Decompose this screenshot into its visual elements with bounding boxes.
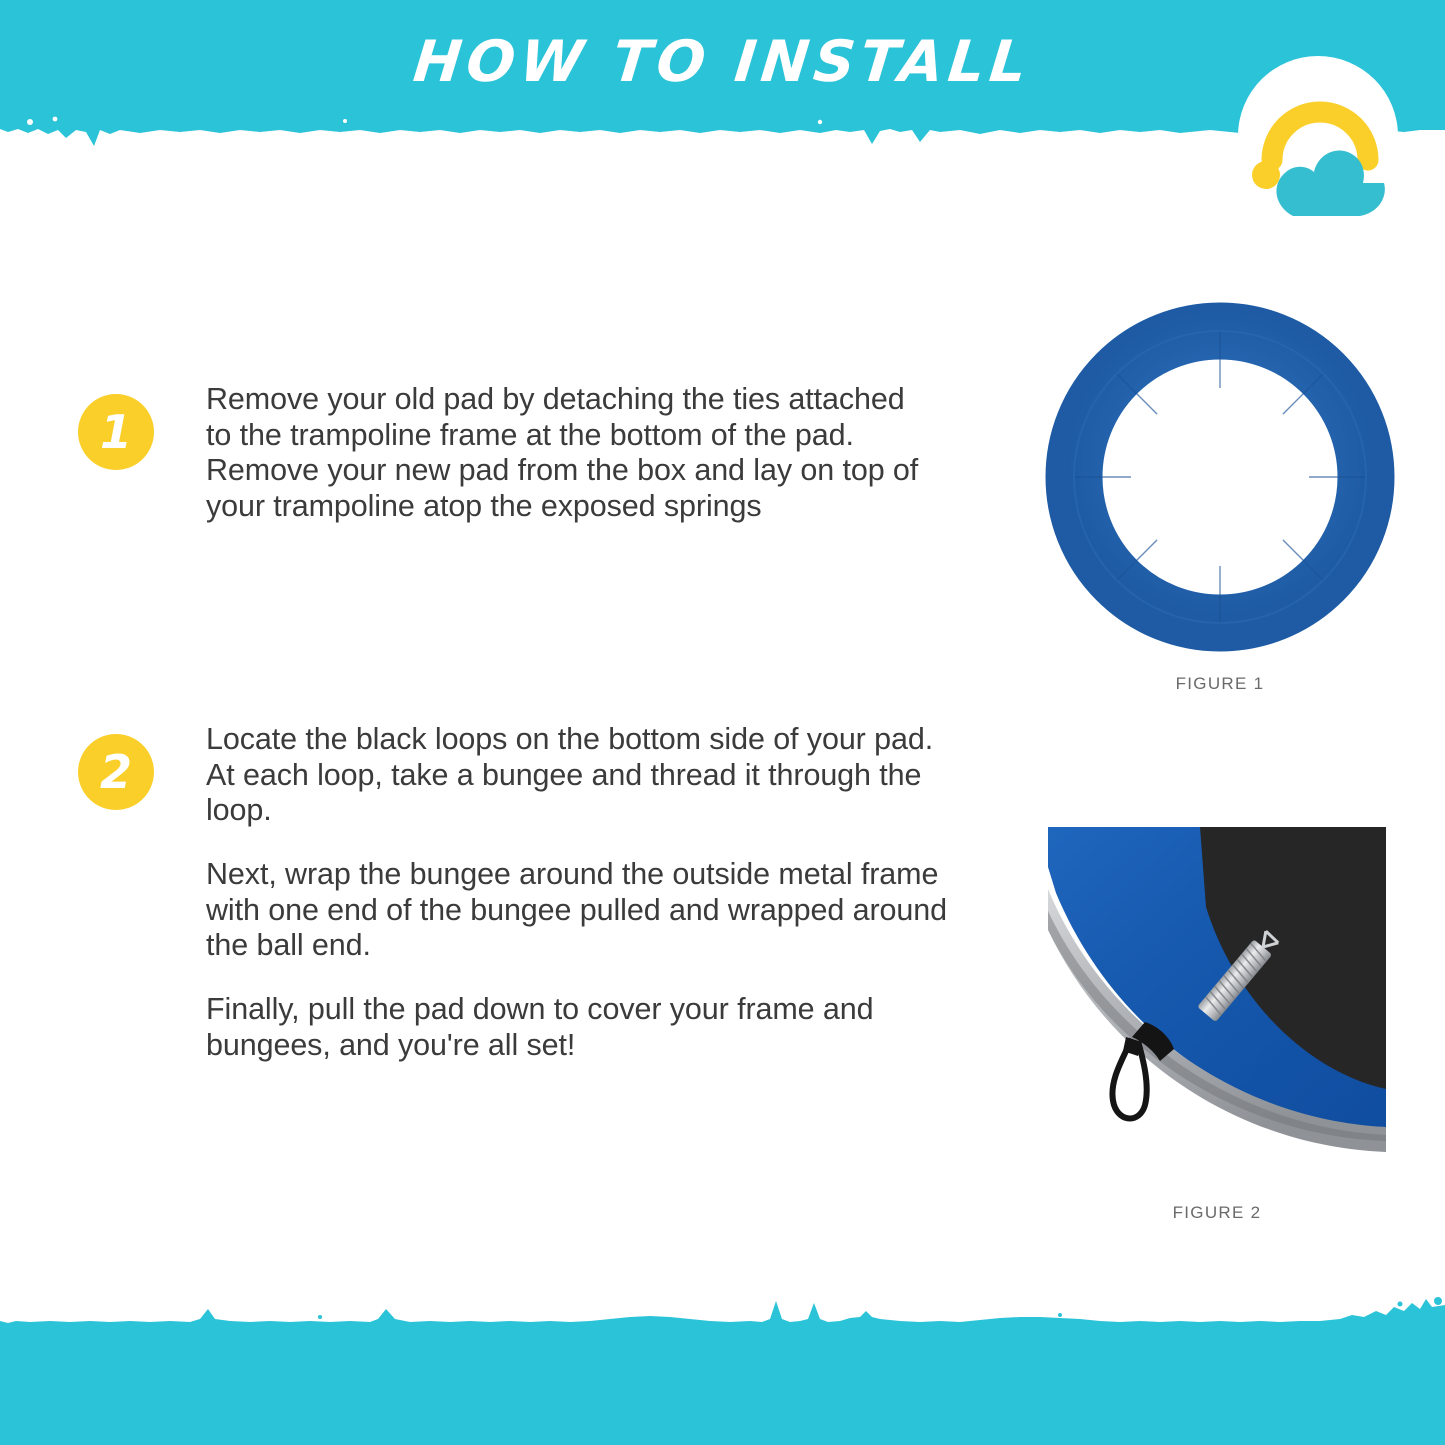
step-2-paragraph-3: Finally, pull the pad down to cover your… bbox=[206, 992, 958, 1063]
step-2: 2 Locate the black loops on the bottom s… bbox=[78, 722, 958, 1063]
top-banner-torn-edge bbox=[0, 108, 1445, 154]
figure-1-caption: FIGURE 1 bbox=[1045, 674, 1395, 694]
step-1-paragraph-1: Remove your old pad by detaching the tie… bbox=[206, 382, 938, 525]
figure-2: FIGURE 2 bbox=[1048, 827, 1386, 1223]
figure-2-caption: FIGURE 2 bbox=[1048, 1203, 1386, 1223]
step-1-body: Remove your old pad by detaching the tie… bbox=[206, 382, 938, 525]
step-2-paragraph-1: Locate the black loops on the bottom sid… bbox=[206, 722, 958, 829]
step-2-paragraph-2: Next, wrap the bungee around the outside… bbox=[206, 857, 958, 964]
page-title: HOW TO INSTALL bbox=[0, 34, 1445, 91]
trampoline-bungee-loop-photo bbox=[1048, 827, 1386, 1165]
how-to-install-page: HOW TO INSTALL 1 Remove your old pad by … bbox=[0, 0, 1445, 1445]
top-banner: HOW TO INSTALL bbox=[0, 0, 1445, 152]
bottom-banner bbox=[0, 1335, 1445, 1445]
step-2-body: Locate the black loops on the bottom sid… bbox=[206, 722, 958, 1063]
bottom-banner-torn-edge bbox=[0, 1297, 1445, 1337]
step-2-number-badge: 2 bbox=[78, 734, 154, 810]
figure-1: FIGURE 1 bbox=[1045, 302, 1395, 694]
main-content: 1 Remove your old pad by detaching the t… bbox=[0, 152, 1445, 1335]
step-1: 1 Remove your old pad by detaching the t… bbox=[78, 382, 938, 525]
step-1-number-badge: 1 bbox=[78, 394, 154, 470]
trampoline-pad-ring-illustration bbox=[1045, 302, 1395, 652]
